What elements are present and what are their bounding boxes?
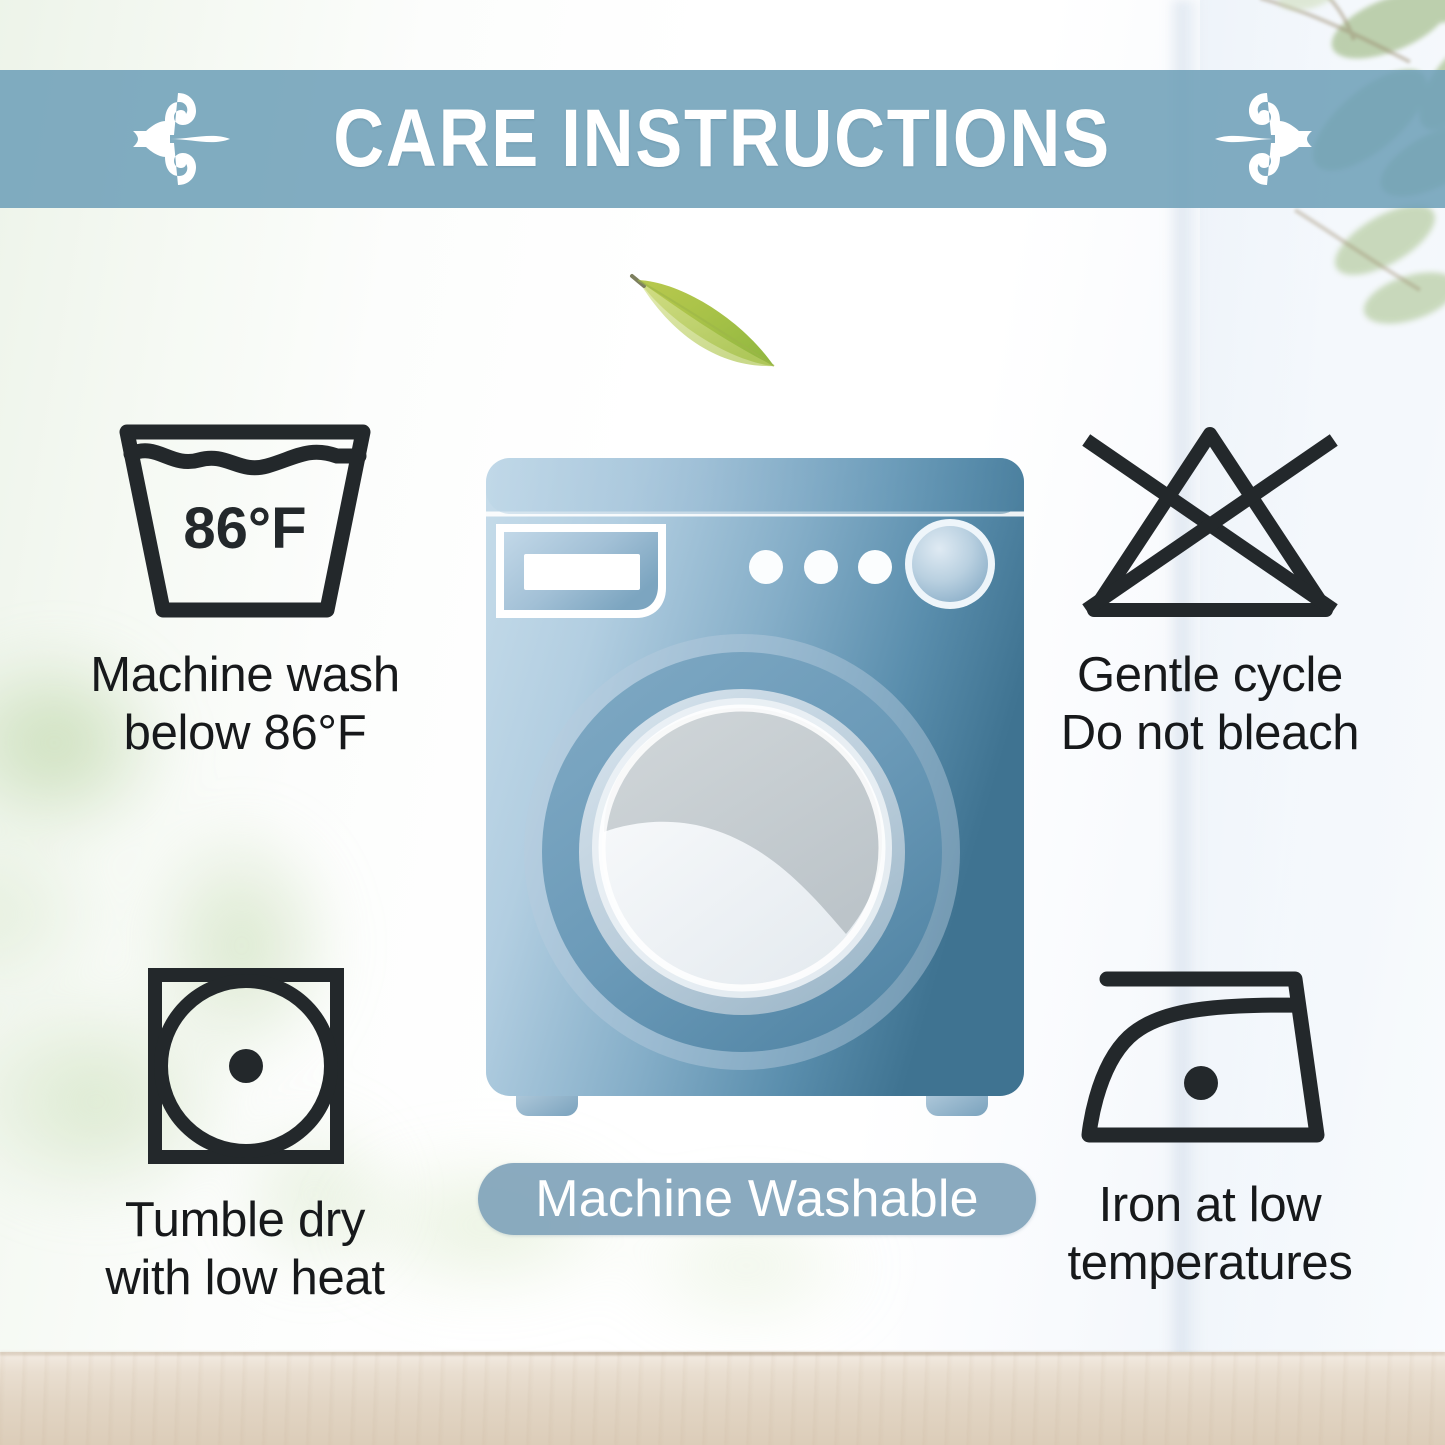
drawer-slot <box>524 554 640 590</box>
care-item-iron: Iron at low temperatures <box>1000 965 1420 1293</box>
care-label-iron: Iron at low temperatures <box>1067 1177 1352 1293</box>
care-item-tumble-dry: Tumble dry with low heat <box>35 965 455 1308</box>
header-banner: CARE INSTRUCTIONS <box>0 70 1445 208</box>
no-bleach-triangle-icon <box>1070 420 1350 625</box>
care-label-tumble-dry: Tumble dry with low heat <box>105 1192 384 1308</box>
washing-machine-illustration <box>470 440 1040 1130</box>
leaf-icon-floating <box>612 262 808 390</box>
wood-grain-texture <box>0 1352 1445 1445</box>
indicator-dots <box>749 550 892 584</box>
care-item-machine-wash: 86°F Machine wash below 86°F <box>35 420 455 763</box>
care-label-machine-wash: Machine wash below 86°F <box>90 647 400 763</box>
washer-lid <box>486 458 1024 514</box>
machine-washable-badge: Machine Washable <box>478 1163 1036 1235</box>
washer-door <box>524 634 960 1070</box>
iron-low-temp-icon <box>1073 965 1348 1155</box>
control-knob <box>905 519 995 609</box>
table-edge-line <box>0 1352 1445 1355</box>
tumble-dry-low-icon <box>133 965 358 1170</box>
care-label-do-not-bleach: Gentle cycle Do not bleach <box>1061 647 1359 763</box>
fleur-de-lis-icon-left <box>128 87 236 191</box>
wash-tub-icon: 86°F <box>105 420 385 625</box>
detergent-drawer <box>496 524 666 618</box>
badge-label: Machine Washable <box>535 1173 979 1225</box>
wood-table-surface <box>0 1352 1445 1445</box>
fleur-de-lis-icon-right <box>1209 87 1317 191</box>
page-title: CARE INSTRUCTIONS <box>334 98 1112 180</box>
wash-temperature-value: 86°F <box>183 496 306 561</box>
care-item-do-not-bleach: Gentle cycle Do not bleach <box>1000 420 1420 763</box>
care-instructions-infographic: CARE INSTRUCTIONS <box>0 0 1445 1445</box>
